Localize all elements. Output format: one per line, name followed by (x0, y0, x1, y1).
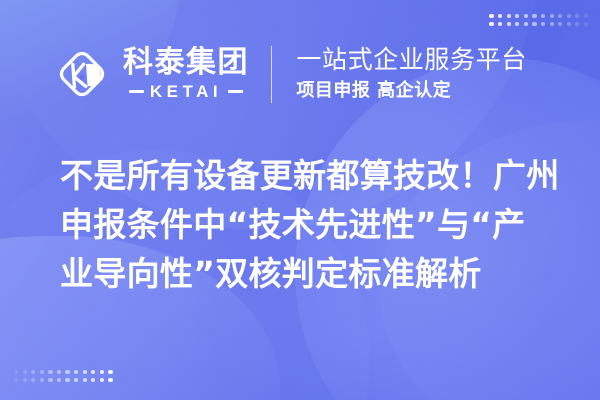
brand-lockup: 科泰集团 KETAI (52, 44, 249, 104)
article-title-line-1: 不是所有设备更新都算技改！广州 (60, 152, 554, 201)
decorative-dot (507, 22, 511, 26)
decorative-dot (532, 22, 536, 26)
decorative-dot (57, 370, 61, 374)
decorative-dot (541, 22, 545, 26)
brand-text: 科泰集团 KETAI (123, 48, 249, 100)
decorative-dot (584, 14, 588, 18)
decorative-dot (31, 378, 35, 382)
dot-row (489, 14, 588, 18)
brand-dash-right (228, 90, 243, 93)
decorative-dot (515, 14, 519, 18)
dot-row (489, 22, 588, 26)
decorative-dot (567, 22, 571, 26)
tagline-sub: 项目申报 高企认定 (296, 81, 526, 102)
decorative-dot (498, 22, 502, 26)
decorative-dot (83, 378, 87, 382)
decorative-dot (91, 378, 95, 382)
brand-name-cn: 科泰集团 (123, 48, 249, 78)
decorative-dot (498, 14, 502, 18)
brand-name-en: KETAI (150, 83, 222, 100)
dot-grid-bottom-left (14, 370, 113, 382)
ketai-diamond-kd-logo-icon (52, 44, 112, 104)
decorative-dot (567, 14, 571, 18)
decorative-dot (108, 370, 112, 374)
decorative-dot (575, 14, 579, 18)
decorative-dot (550, 14, 554, 18)
promo-banner: 科泰集团 KETAI 一站式企业服务平台 项目申报 高企认定 不是所有设备更新都… (0, 0, 600, 400)
decorative-dot (14, 378, 18, 382)
decorative-dot (507, 14, 511, 18)
decorative-dot (515, 22, 519, 26)
dot-row (14, 378, 113, 382)
decorative-dot (550, 22, 554, 26)
decorative-dot (74, 370, 78, 374)
tagline-main: 一站式企业服务平台 (296, 46, 526, 75)
decorative-dot (74, 378, 78, 382)
decorative-dot (83, 370, 87, 374)
decorative-dot (584, 22, 588, 26)
decorative-dot (100, 378, 104, 382)
article-title: 不是所有设备更新都算技改！广州 申报条件中“技术先进性”与“产 业导向性”双核判… (60, 152, 554, 298)
decorative-dot (524, 14, 528, 18)
tagline-block: 一站式企业服务平台 项目申报 高企认定 (296, 46, 526, 101)
brand-name-en-row: KETAI (129, 83, 243, 100)
banner-header: 科泰集团 KETAI 一站式企业服务平台 项目申报 高企认定 (52, 38, 527, 110)
decorative-dot (489, 22, 493, 26)
decorative-dot (65, 370, 69, 374)
decorative-dot (65, 378, 69, 382)
decorative-dot (14, 370, 18, 374)
brand-dash-left (129, 90, 144, 93)
decorative-dot (57, 378, 61, 382)
decorative-dot (40, 378, 44, 382)
article-title-line-3: 业导向性”双核判定标准解析 (60, 250, 554, 299)
decorative-dot (558, 14, 562, 18)
decorative-dot (108, 378, 112, 382)
decorative-dot (541, 14, 545, 18)
decorative-dot (31, 370, 35, 374)
decorative-dot (575, 22, 579, 26)
decorative-dot (48, 370, 52, 374)
header-divider (271, 46, 272, 103)
decorative-dot (40, 370, 44, 374)
decorative-dot (558, 22, 562, 26)
decorative-dot (489, 14, 493, 18)
article-title-line-2: 申报条件中“技术先进性”与“产 (60, 201, 554, 250)
decorative-dot (91, 370, 95, 374)
decorative-dot (532, 14, 536, 18)
decorative-dot (23, 378, 27, 382)
decorative-dot (100, 370, 104, 374)
dot-grid-top-right (489, 14, 588, 26)
decorative-dot (23, 370, 27, 374)
dot-row (14, 370, 113, 374)
decorative-dot (48, 378, 52, 382)
decorative-dot (524, 22, 528, 26)
